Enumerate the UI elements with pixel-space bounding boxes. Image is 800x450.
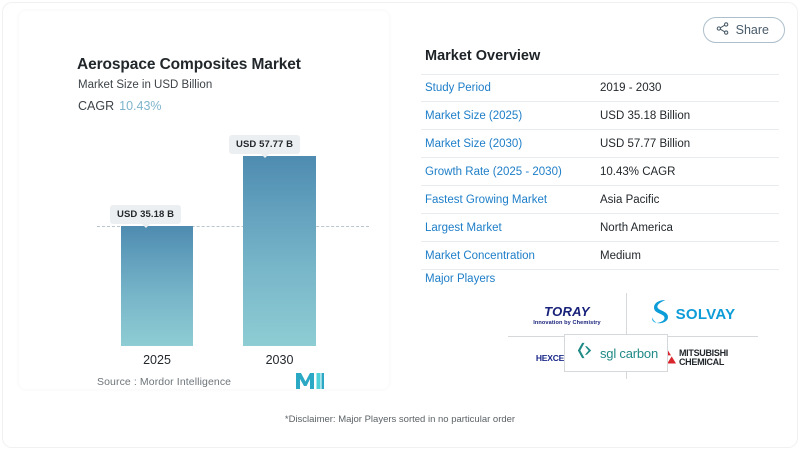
- row-key: Market Size (2025): [425, 110, 600, 122]
- table-row: Market Size (2030) USD 57.77 Billion: [421, 130, 779, 158]
- logo-solvay: SOLVAY: [627, 293, 758, 336]
- bar-label-2025: USD 35.18 B: [110, 205, 181, 224]
- source-text: Source : Mordor Intelligence: [97, 376, 231, 388]
- row-key: Largest Market: [425, 222, 600, 234]
- bar-2030[interactable]: [243, 156, 316, 346]
- row-value: 10.43% CAGR: [600, 166, 675, 178]
- solvay-wordmark: SOLVAY: [676, 306, 736, 323]
- row-key: Study Period: [425, 82, 600, 94]
- row-value: North America: [600, 222, 673, 234]
- chart-cagr: CAGR10.43%: [78, 99, 162, 113]
- table-row: Market Size (2025) USD 35.18 Billion: [421, 102, 779, 130]
- row-value: 2019 - 2030: [600, 82, 661, 94]
- row-value: Medium: [600, 250, 641, 262]
- solvay-mark-icon: [650, 298, 670, 331]
- table-row: Market Concentration Medium: [421, 242, 779, 270]
- row-value: USD 57.77 Billion: [600, 138, 690, 150]
- major-players-label: Major Players: [425, 273, 495, 285]
- logo-toray: TORAY Innovation by Chemistry: [508, 293, 626, 336]
- table-row: Largest Market North America: [421, 214, 779, 242]
- row-key: Market Concentration: [425, 250, 600, 262]
- row-value: Asia Pacific: [600, 194, 659, 206]
- disclaimer-text: *Disclaimer: Major Players sorted in no …: [0, 414, 800, 425]
- toray-wordmark: TORAY: [533, 304, 601, 319]
- cagr-label: CAGR: [78, 99, 114, 113]
- chart-subtitle: Market Size in USD Billion: [78, 79, 212, 91]
- row-key: Fastest Growing Market: [425, 194, 600, 206]
- table-row: Study Period 2019 - 2030: [421, 74, 779, 102]
- cagr-value: 10.43%: [119, 99, 161, 113]
- sgl-carbon-mark-icon: [574, 341, 595, 365]
- row-key: Growth Rate (2025 - 2030): [425, 166, 600, 178]
- bar-label-2030: USD 57.77 B: [229, 135, 300, 154]
- share-button[interactable]: Share: [703, 17, 785, 43]
- market-overview-table: Study Period 2019 - 2030 Market Size (20…: [421, 74, 779, 270]
- sgl-carbon-wordmark: sgl carbon: [600, 346, 658, 361]
- toray-tagline: Innovation by Chemistry: [533, 320, 601, 326]
- mordor-intelligence-logo: [295, 372, 325, 390]
- logo-sgl-carbon: sgl carbon: [564, 334, 668, 372]
- share-button-label: Share: [736, 23, 769, 37]
- mitsubishi-wordmark-line2: CHEMICAL: [679, 358, 728, 367]
- infographic-root: Aerospace Composites Market Market Size …: [0, 0, 800, 450]
- table-row: Fastest Growing Market Asia Pacific: [421, 186, 779, 214]
- chart-card: Aerospace Composites Market Market Size …: [18, 10, 390, 390]
- chart-title: Aerospace Composites Market: [77, 56, 301, 74]
- row-key: Market Size (2030): [425, 138, 600, 150]
- x-axis-label-2025: 2025: [121, 353, 193, 367]
- share-icon: [716, 22, 729, 38]
- row-value: USD 35.18 Billion: [600, 110, 690, 122]
- bar-chart-plot: USD 35.18 B USD 57.77 B 2025 2030: [79, 131, 369, 346]
- bar-2025[interactable]: [121, 226, 193, 346]
- table-row: Growth Rate (2025 - 2030) 10.43% CAGR: [421, 158, 779, 186]
- x-axis-label-2030: 2030: [243, 353, 316, 367]
- market-overview-title: Market Overview: [425, 48, 540, 64]
